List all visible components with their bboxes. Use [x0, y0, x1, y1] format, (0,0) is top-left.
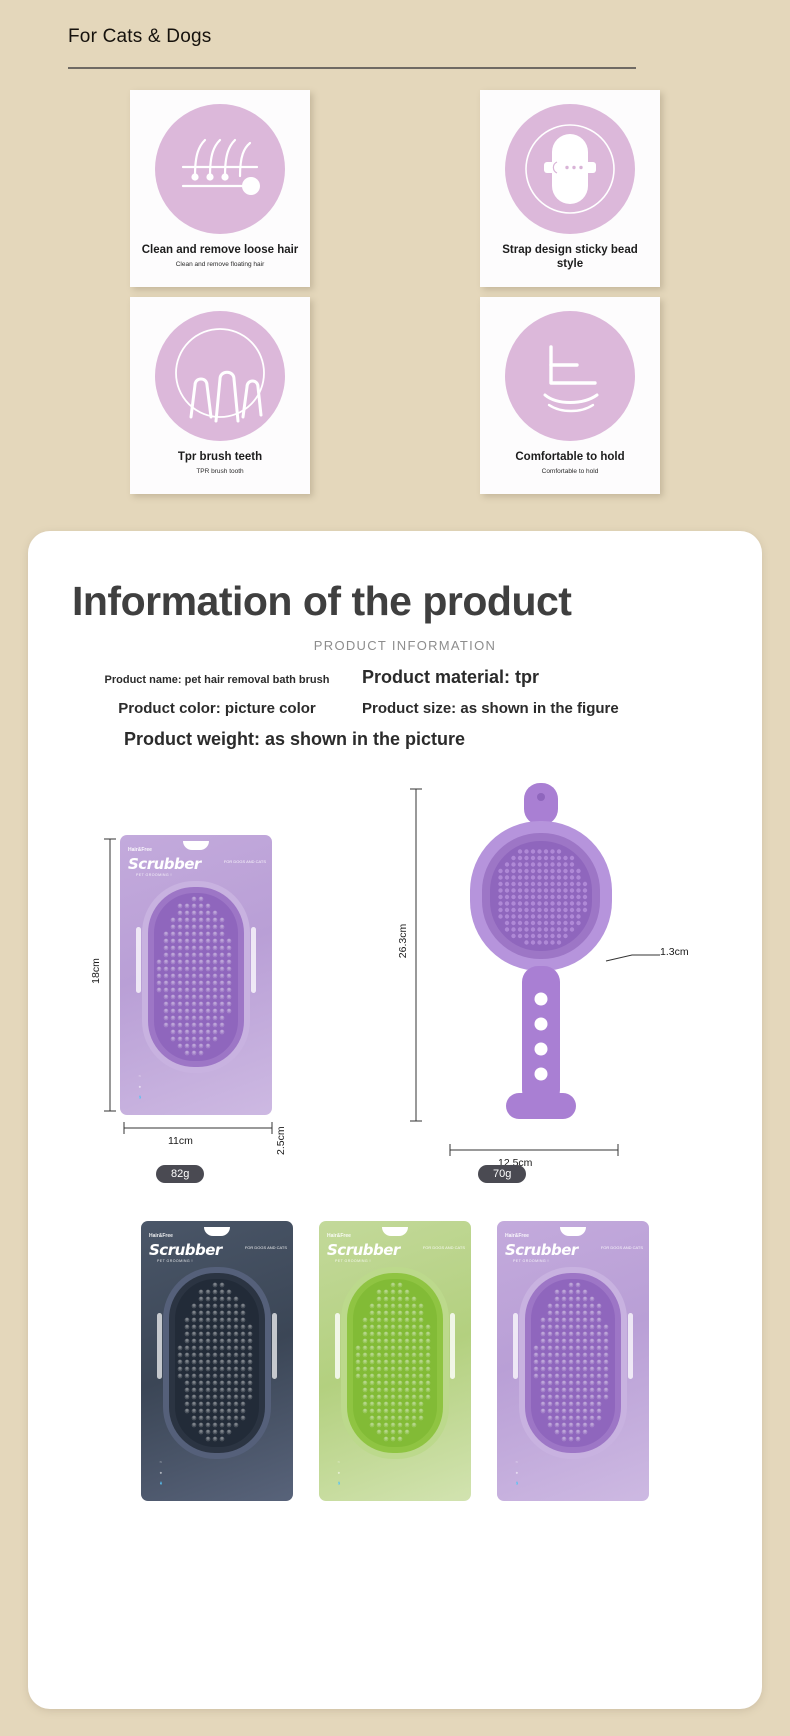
feature-caption: Comfortable to hold [490, 450, 650, 464]
page-title: For Cats & Dogs [68, 26, 638, 48]
feature-grid: Clean and remove loose hair Clean and re… [130, 90, 660, 504]
feature-subtitle: TPR brush tooth [196, 468, 243, 475]
spec-product-size: Product size: as shown in the figure [362, 700, 619, 717]
spec-product-weight: Product weight: as shown in the picture [124, 729, 465, 750]
variant-card-navy[interactable]: Hair&Free Scrubber PET GROOMING ! FOR DO… [141, 1221, 293, 1501]
strap-brush-icon [505, 104, 635, 234]
product-information-panel: Information of the product PRODUCT INFOR… [28, 531, 762, 1709]
dim-label-depth-left: 2.5cm [275, 1115, 287, 1155]
variant-card-green[interactable]: Hair&Free Scrubber PET GROOMING ! FOR DO… [319, 1221, 471, 1501]
dim-label-thickness-right: 1.3cm [660, 946, 689, 958]
spec-row-name-material: Product name: pet hair removal bath brus… [72, 667, 722, 688]
weight-badge-left: 82g [156, 1165, 204, 1183]
feature-subtitle: Comfortable to hold [542, 468, 599, 475]
feature-card-comfortable-hold[interactable]: Comfortable to hold Comfortable to hold [480, 297, 660, 494]
feature-caption: Clean and remove loose hair [140, 243, 300, 257]
width-dimension-line-left [120, 1119, 280, 1137]
hair-follicle-icon [155, 104, 285, 234]
header-divider [68, 67, 636, 69]
feature-card-clean-hair[interactable]: Clean and remove loose hair Clean and re… [130, 90, 310, 287]
spec-product-name: Product name: pet hair removal bath brus… [72, 674, 362, 686]
spec-row-weight: Product weight: as shown in the picture [72, 729, 722, 750]
dimension-diagrams: 18cm Hair&Free Scrubber PET GROOMING ! F… [28, 767, 762, 1207]
brush-illustration [120, 835, 272, 1115]
dim-label-height-left: 18cm [90, 951, 102, 991]
feature-subtitle: Clean and remove floating hair [176, 261, 265, 268]
variant-card-purple[interactable]: Hair&Free Scrubber PET GROOMING ! FOR DO… [497, 1221, 649, 1501]
spec-product-material: Product material: tpr [362, 667, 539, 688]
height-dimension-line-left [100, 835, 120, 1115]
brush-teeth-icon [155, 311, 285, 441]
info-title: Information of the product [72, 578, 571, 625]
feature-caption: Strap design sticky bead style [490, 243, 650, 272]
dim-label-width-left: 11cm [168, 1135, 193, 1147]
spec-row-color-size: Product color: picture color Product siz… [72, 700, 722, 717]
hand-hold-icon [505, 311, 635, 441]
dim-label-height-right: 26.3cm [397, 918, 409, 964]
height-dimension-line-right [406, 785, 426, 1125]
feature-row-bottom: Tpr brush teeth TPR brush tooth Comforta… [130, 297, 660, 494]
brush-illustration [141, 1221, 293, 1501]
weight-badge-right: 70g [478, 1165, 526, 1183]
feature-caption: Tpr brush teeth [140, 450, 300, 464]
brush-illustration [319, 1221, 471, 1501]
feature-card-strap-design[interactable]: Strap design sticky bead style [480, 90, 660, 287]
page-header: For Cats & Dogs [68, 26, 638, 69]
color-variant-row: Hair&Free Scrubber PET GROOMING ! FOR DO… [28, 1221, 762, 1501]
feature-row-top: Clean and remove loose hair Clean and re… [130, 90, 660, 287]
info-subtitle: PRODUCT INFORMATION [28, 638, 762, 653]
feature-card-tpr-teeth[interactable]: Tpr brush teeth TPR brush tooth [130, 297, 310, 494]
width-dimension-line-right [446, 1141, 626, 1159]
package-card-purple: Hair&Free Scrubber PET GROOMING ! FOR DO… [120, 835, 272, 1115]
spec-list: Product name: pet hair removal bath brus… [72, 667, 722, 762]
spec-product-color: Product color: picture color [72, 700, 362, 717]
brush-illustration [497, 1221, 649, 1501]
